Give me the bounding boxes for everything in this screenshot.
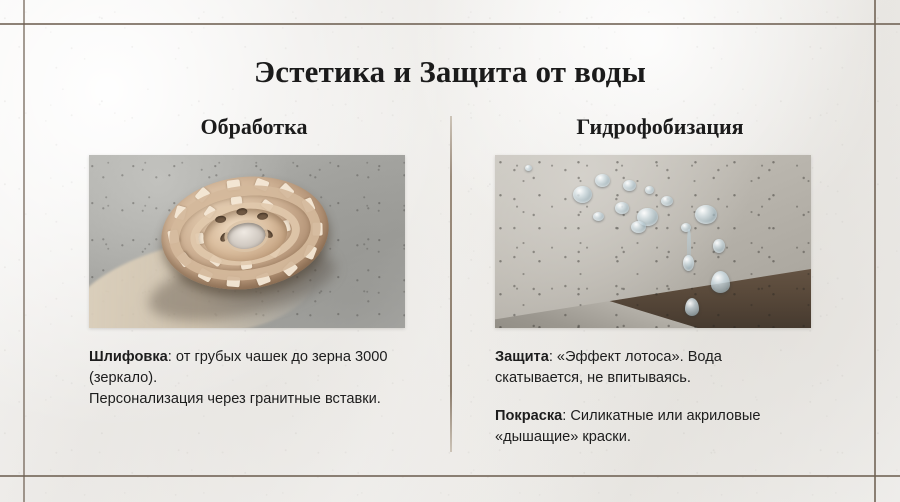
water-droplet [525, 165, 532, 171]
column-text-left: Шлифовка: от грубых чашек до зерна 3000 … [89, 347, 407, 410]
column-divider [450, 116, 452, 452]
paragraph-lead: Покраска [495, 408, 562, 424]
water-droplet [661, 196, 673, 206]
water-droplet [713, 239, 725, 253]
paragraph-shlifovka: Шлифовка: от грубых чашек до зерна 3000 … [89, 347, 407, 410]
slide-canvas: Эстетика и Защита от воды Обработка [0, 0, 900, 502]
water-droplet [573, 186, 592, 203]
paragraph-separator: : [549, 349, 557, 365]
column-heading-right: Гидрофобизация [495, 113, 825, 141]
water-droplet [631, 221, 646, 233]
frame-line-bottom [0, 475, 900, 477]
paragraph-separator: : [168, 349, 176, 365]
column-obrabotka: Обработка [89, 113, 419, 410]
diamond-cup-wheel-icon [155, 167, 335, 299]
paragraph-lead: Защита [495, 349, 549, 365]
paragraph-lead: Шлифовка [89, 349, 168, 365]
water-droplet [615, 202, 629, 214]
water-beading-image [495, 155, 811, 328]
water-droplet [695, 205, 717, 224]
paragraph-pokraska: Покраска: Силикатные или акриловые «дыша… [495, 406, 813, 448]
water-droplet [623, 180, 636, 191]
water-droplet-on-edge [683, 255, 694, 271]
frame-line-top [0, 23, 900, 25]
column-text-right: Защита: «Эффект лотоса». Вода скатываетс… [495, 347, 813, 448]
falling-water-droplet [711, 271, 730, 293]
water-droplet [593, 212, 604, 221]
slide-title: Эстетика и Защита от воды [0, 54, 900, 90]
falling-water-droplet [685, 298, 699, 316]
water-droplet [595, 174, 610, 187]
column-gidrofobizatsiya: Гидрофобизация [495, 113, 825, 448]
column-heading-left: Обработка [89, 113, 419, 141]
paragraph-zashchita: Защита: «Эффект лотоса». Вода скатываетс… [495, 347, 813, 389]
grinding-wheel-image [89, 155, 405, 328]
concrete-pores-texture [495, 155, 811, 328]
water-droplet [645, 186, 654, 194]
